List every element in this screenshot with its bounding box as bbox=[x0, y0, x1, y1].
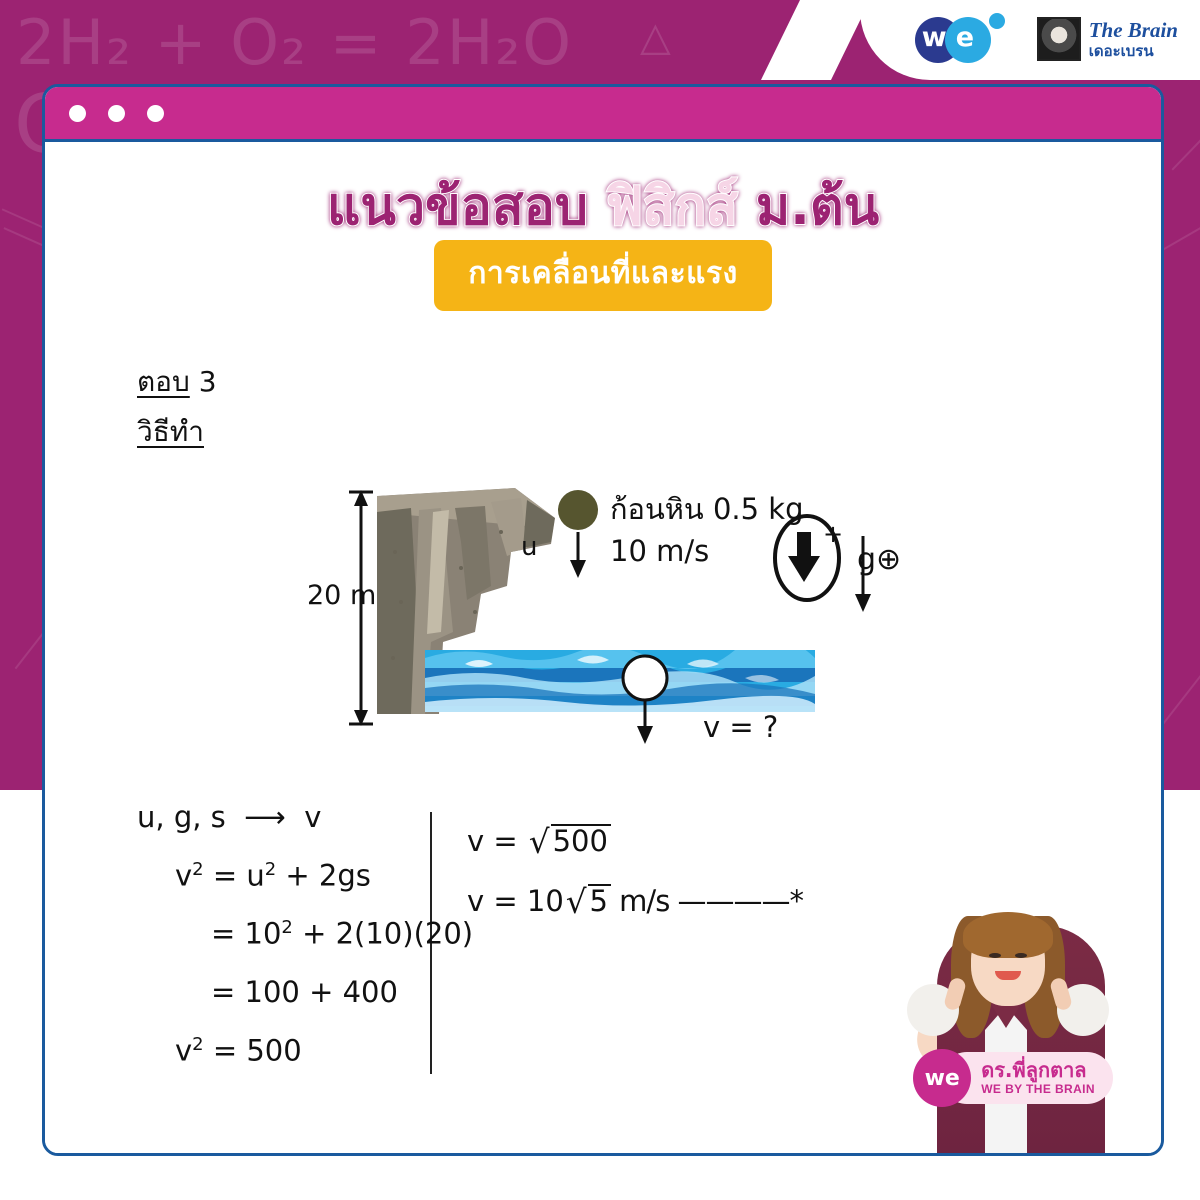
presenter-name-thai: ดร.พี่ลูกตาล bbox=[981, 1060, 1095, 1081]
page-title: แนวข้อสอบ ฟิสิกส์ ม.ต้น bbox=[45, 164, 1161, 247]
teacher-eye-left bbox=[989, 953, 1001, 958]
final-velocity-label: v = ? bbox=[703, 710, 778, 744]
teacher-hair-top bbox=[963, 912, 1053, 958]
work-line: = 100 + 400 bbox=[137, 977, 487, 1009]
work-line: u, g, s ⟶ v bbox=[137, 802, 487, 834]
brain-name-th: เดอะเบรน bbox=[1089, 44, 1178, 59]
gravity-letter: g bbox=[857, 542, 876, 577]
u-velocity-arrow bbox=[570, 532, 586, 578]
working-right-column: v = √500 v = 10√5 m/s ————* bbox=[467, 824, 887, 944]
we-logo: w e bbox=[915, 13, 1011, 65]
answer-line: ตอบ 3 bbox=[137, 360, 217, 404]
window-dot-2-icon[interactable] bbox=[108, 105, 125, 122]
title-part-2: ฟิสิกส์ bbox=[606, 177, 756, 237]
sqrt-group: √500 bbox=[527, 824, 611, 858]
badge-we-text: we bbox=[925, 1066, 960, 1091]
gravity-label: g⊕ bbox=[857, 542, 901, 577]
answer-value: 3 bbox=[199, 365, 217, 398]
slide-window: แนวข้อสอบ ฟิสิกส์ ม.ต้น การเคลื่อนที่และ… bbox=[42, 84, 1164, 1156]
teacher-photo bbox=[899, 841, 1139, 1156]
work-line: v = 10√5 m/s ————* bbox=[467, 884, 887, 918]
subtitle-badge: การเคลื่อนที่และแรง bbox=[434, 240, 772, 311]
badge-text-group: ดร.พี่ลูกตาล WE BY THE BRAIN bbox=[981, 1060, 1095, 1096]
the-brain-logo: The Brain เดอะเบรน bbox=[1037, 17, 1178, 61]
method-label: วิธีทำ bbox=[137, 415, 204, 448]
we-logo-w: w bbox=[922, 24, 947, 51]
method-line: วิธีทำ bbox=[137, 410, 204, 454]
radical-icon: √ bbox=[566, 886, 587, 918]
radicand-value: 5 bbox=[588, 884, 611, 918]
brain-portrait-icon bbox=[1037, 17, 1081, 61]
radicand-value: 500 bbox=[551, 824, 611, 858]
stone-icon bbox=[558, 490, 598, 530]
work-line: v2 = u2 + 2gs bbox=[137, 860, 487, 893]
title-part-3: ม.ต้น bbox=[756, 177, 879, 237]
answer-label: ตอบ bbox=[137, 365, 190, 398]
title-part-1: แนวข้อสอบ bbox=[327, 177, 606, 237]
subtitle-container: การเคลื่อนที่และแรง bbox=[45, 240, 1161, 311]
sqrt-group: √5 bbox=[564, 884, 611, 918]
stone-mass-label: ก้อนหิน 0.5 kg bbox=[610, 486, 804, 532]
work-line: = 102 + 2(10)(20) bbox=[137, 918, 487, 951]
result-tail: m/s ————* bbox=[611, 884, 803, 918]
brain-wordmark: The Brain เดอะเบรน bbox=[1089, 20, 1178, 59]
window-dot-1-icon[interactable] bbox=[69, 105, 86, 122]
water-illustration bbox=[425, 636, 815, 712]
we-logo-e: e bbox=[956, 24, 974, 51]
impact-marker-icon bbox=[623, 656, 667, 700]
brain-name-en: The Brain bbox=[1089, 20, 1178, 41]
sign-plus-label: + bbox=[823, 520, 843, 548]
presenter-name-english: WE BY THE BRAIN bbox=[981, 1083, 1095, 1096]
height-label: 20 m bbox=[307, 580, 376, 611]
slide-canvas: 2H₂ + O₂ = 2H₂O C △ w e The Brain เดอะเบ… bbox=[0, 0, 1200, 1200]
working-left-column: u, g, s ⟶ v v2 = u2 + 2gs = 102 + 2(10)(… bbox=[137, 802, 487, 1093]
result-lead-1: v = bbox=[467, 824, 527, 858]
work-line: v2 = 500 bbox=[137, 1035, 487, 1068]
result-lead-2: v = 10 bbox=[467, 884, 564, 918]
badge-we-logo: we bbox=[913, 1049, 971, 1107]
work-line: v = √500 bbox=[467, 824, 887, 858]
teacher-eye-right bbox=[1015, 953, 1027, 958]
u-symbol-label: u bbox=[521, 532, 537, 562]
presenter-badge: we ดร.พี่ลูกตาล WE BY THE BRAIN bbox=[913, 1052, 1095, 1104]
window-dot-3-icon[interactable] bbox=[147, 105, 164, 122]
initial-speed-label: 10 m/s bbox=[610, 534, 709, 568]
radical-icon: √ bbox=[529, 826, 550, 858]
physics-diagram: 20 m u ก้อนหิน 0.5 kg 10 m/s g⊕ + v = ? bbox=[315, 482, 1105, 772]
window-titlebar bbox=[45, 87, 1161, 142]
logo-group: w e The Brain เดอะเบรน bbox=[915, 8, 1178, 70]
we-dot-icon bbox=[989, 13, 1005, 29]
gravity-plus-icon: ⊕ bbox=[876, 542, 901, 577]
window-content: แนวข้อสอบ ฟิสิกส์ ม.ต้น การเคลื่อนที่และ… bbox=[45, 142, 1161, 1156]
